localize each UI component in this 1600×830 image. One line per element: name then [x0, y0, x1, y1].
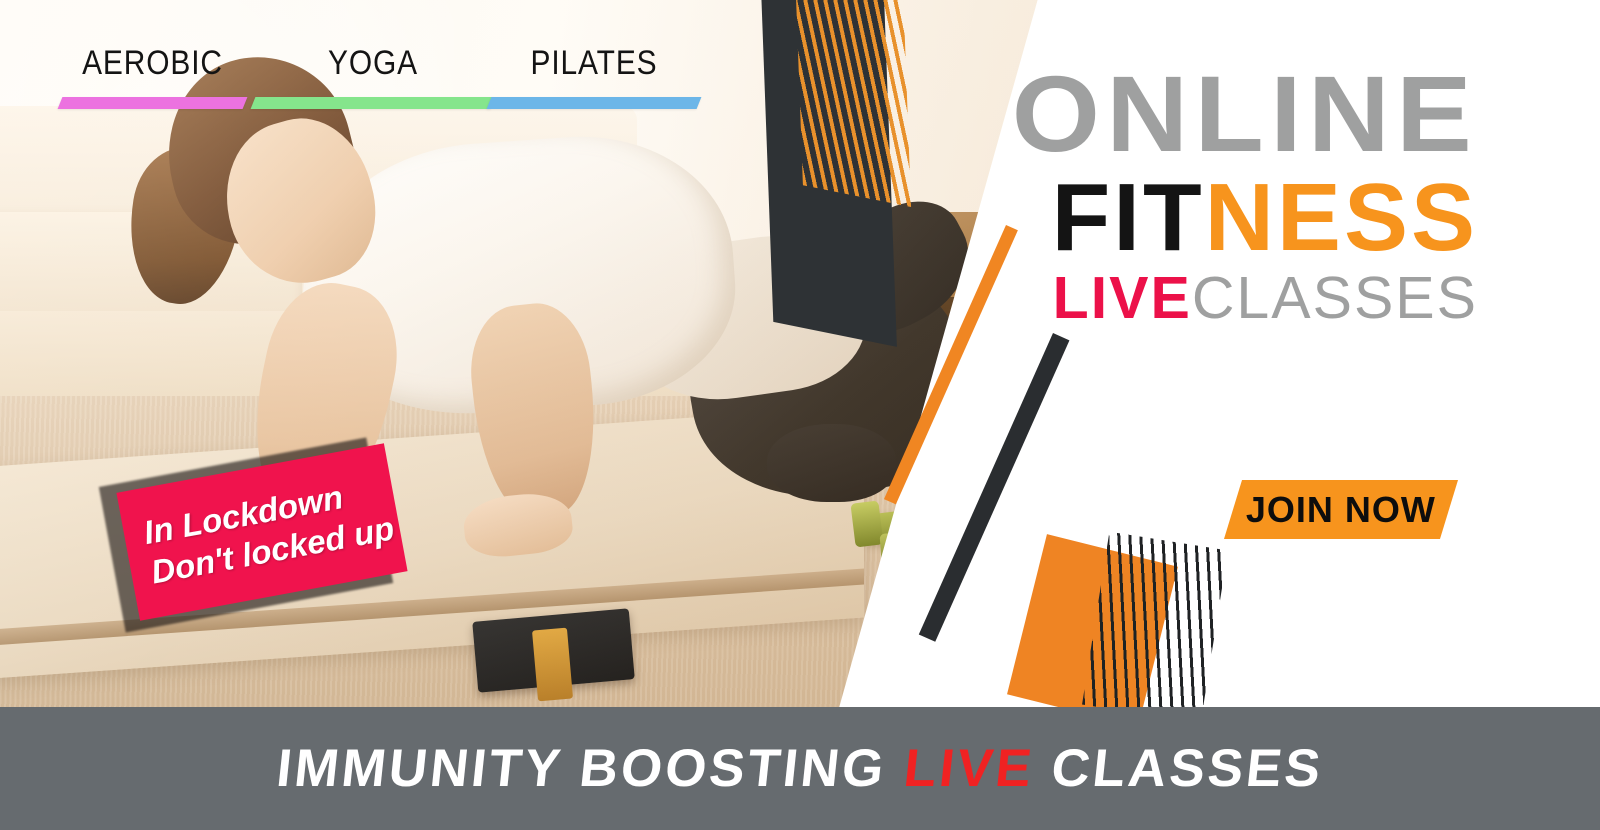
category-label: YOGA: [267, 44, 478, 83]
join-now-label: JOIN NOW: [1246, 489, 1436, 531]
category-item-aerobic[interactable]: AEROBIC: [60, 44, 245, 109]
footer-text-part1: IMMUNITY BOOSTING: [274, 739, 907, 798]
category-underline: [251, 97, 496, 109]
headline-online: ONLINE: [1012, 62, 1478, 166]
headline-fit: FIT: [1052, 164, 1205, 271]
footer-text-part2: CLASSES: [1031, 739, 1326, 798]
lockdown-badge: In Lockdown Don't locked up: [108, 455, 408, 670]
person-knee: [767, 424, 897, 502]
headline-live-classes: LIVECLASSES: [1034, 268, 1478, 330]
headline-fitness: FITNESS: [1034, 170, 1478, 266]
join-now-button[interactable]: JOIN NOW: [1224, 480, 1458, 539]
headline-block: ONLINE FITNESS LIVECLASSES: [1034, 62, 1478, 330]
footer-text-live: LIVE: [901, 739, 1037, 798]
smartphone-stand: [532, 628, 573, 701]
dumbbell-head-1a: [851, 500, 884, 547]
footer-text: IMMUNITY BOOSTING LIVE CLASSES: [274, 738, 1326, 799]
headline-ness: NESS: [1205, 164, 1478, 271]
orange-hatch-stripes-top: [795, 0, 911, 207]
category-label: AEROBIC: [71, 44, 234, 83]
category-list: AEROBIC YOGA PILATES: [0, 44, 700, 140]
headline-classes: CLASSES: [1192, 265, 1478, 331]
category-item-pilates[interactable]: PILATES: [489, 44, 699, 109]
category-underline: [58, 97, 248, 109]
lockdown-badge-panel: In Lockdown Don't locked up: [116, 443, 407, 620]
category-underline: [487, 97, 702, 109]
footer-bar: IMMUNITY BOOSTING LIVE CLASSES: [0, 707, 1600, 830]
headline-live: LIVE: [1053, 265, 1192, 331]
fitness-promo-banner: AEROBIC YOGA PILATES In Lockdown Don't l…: [0, 0, 1600, 830]
category-item-yoga[interactable]: YOGA: [253, 44, 493, 109]
category-label: PILATES: [502, 44, 687, 83]
